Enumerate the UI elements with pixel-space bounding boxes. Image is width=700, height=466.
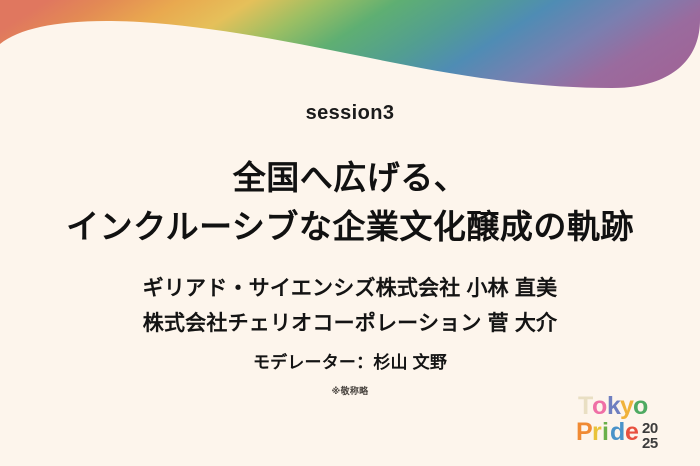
logo-year-bottom: 25 <box>642 435 658 452</box>
honorific-note: ※敬称略 <box>332 384 369 397</box>
logo-letter-t-top: T <box>578 392 593 420</box>
session-title-line-2: インクルーシブな企業文化醸成の軌跡 <box>66 207 634 247</box>
moderator-line: モデレーター：杉山 文野 <box>253 348 447 373</box>
logo-letter-r: r <box>592 418 602 446</box>
tokyo-pride-logo: T o k y o P r i d e 20 25 <box>574 388 686 454</box>
logo-letter-e: e <box>625 418 639 446</box>
logo-letter-k-top: k <box>607 392 621 420</box>
logo-letter-o2-top: o <box>633 392 648 420</box>
session-title-line-1: 全国へ広げる、 <box>233 158 468 198</box>
tokyo-pride-logo-svg: T o k y o P r i d e 20 25 <box>574 388 686 454</box>
logo-letter-p: P <box>576 418 593 446</box>
presentation-slide: session3 全国へ広げる、 インクルーシブな企業文化醸成の軌跡 ギリアド・… <box>0 0 700 466</box>
speaker-1: ギリアド・サイエンシズ株式会社 小林 直美 <box>143 276 558 302</box>
speaker-2: 株式会社チェリオコーポレーション 菅 大介 <box>143 311 557 337</box>
logo-letter-i: i <box>602 418 609 446</box>
logo-letter-d: d <box>610 418 625 446</box>
logo-letter-y-top: y <box>620 392 634 420</box>
logo-letter-o1-top: o <box>592 392 607 420</box>
session-label: session3 <box>306 103 395 123</box>
